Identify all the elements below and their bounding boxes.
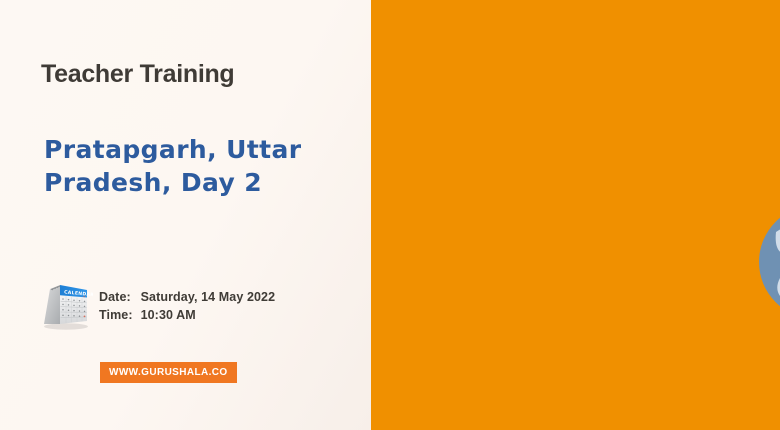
event-datetime-text: Date: Saturday, 14 May 2022 Time: 10:30 …: [99, 288, 275, 324]
event-location-title: Pratapgarh, Uttar Pradesh, Day 2: [44, 133, 364, 199]
time-value: 10:30 AM: [141, 308, 196, 322]
teacher-training-banner: Teacher Training Pratapgarh, Uttar Prade…: [0, 0, 780, 430]
website-url-badge[interactable]: WWW.GURUSHALA.CO: [100, 362, 237, 383]
online-training-illustration: [742, 0, 780, 430]
time-label: Time:: [99, 306, 137, 324]
date-value: Saturday, 14 May 2022: [141, 290, 276, 304]
globe-icon: [759, 205, 780, 319]
left-content-panel: Teacher Training Pratapgarh, Uttar Prade…: [0, 0, 371, 430]
calendar-icon: CALENDAR: [38, 281, 93, 331]
event-date-row: Date: Saturday, 14 May 2022: [99, 288, 275, 306]
page-title: Teacher Training: [41, 60, 234, 89]
event-datetime-block: CALENDAR: [38, 281, 275, 331]
date-label: Date:: [99, 288, 137, 306]
event-time-row: Time: 10:30 AM: [99, 306, 275, 324]
right-illustration-panel: Guruशाला Inspiring To Teach: [371, 0, 780, 430]
